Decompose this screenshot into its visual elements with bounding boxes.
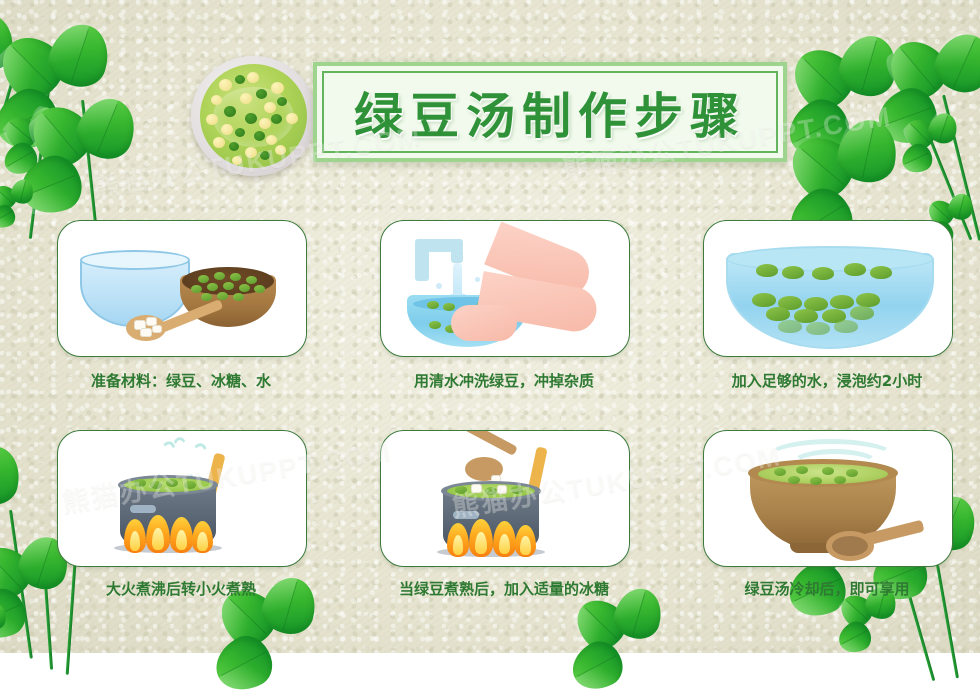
poster-root: 绿豆汤制作步骤 准备材料：绿豆、 [0, 0, 980, 653]
mung-bean [782, 266, 804, 279]
step-caption-1: 准备材料：绿豆、冰糖、水 [46, 370, 316, 391]
mung-bean [850, 306, 874, 320]
glass-bowl-rim [80, 250, 190, 270]
step-caption-2: 用清水冲洗绿豆，冲掉杂质 [369, 370, 639, 391]
title-banner: 绿豆汤制作步骤 [313, 62, 787, 162]
step-card-6[interactable] [703, 430, 953, 567]
mung-bean [223, 282, 234, 290]
pot-handle [453, 511, 479, 519]
clover-decoration-top-right [838, 15, 980, 245]
step-2-illustration [381, 221, 629, 356]
mung-bean [834, 476, 846, 484]
mung-bean [830, 295, 854, 309]
mung-bean [806, 322, 830, 335]
step-card-4[interactable] [57, 430, 307, 567]
pot-handle [130, 505, 156, 513]
page-title: 绿豆汤制作步骤 [354, 77, 746, 148]
mung-bean [427, 301, 439, 309]
title-banner-inner-frame: 绿豆汤制作步骤 [322, 71, 778, 153]
rock-sugar [471, 484, 482, 493]
clover-decoration-top-left [0, 20, 200, 250]
mung-bean [207, 283, 218, 291]
bowl-soup-surface [200, 64, 307, 168]
mung-bean [254, 285, 265, 293]
mung-bean [485, 487, 497, 495]
mung-bean [134, 479, 146, 487]
mung-bean [774, 468, 786, 476]
mung-bean [812, 267, 834, 280]
fingers [451, 305, 517, 341]
serving-spoon-bowl-inner [832, 536, 868, 556]
mung-bean [788, 476, 800, 484]
mung-bean [150, 481, 162, 489]
step-3-illustration [704, 221, 952, 356]
water-droplet [475, 277, 480, 282]
step-card-5[interactable] [380, 430, 630, 567]
rock-sugar [152, 325, 162, 333]
mung-bean [856, 293, 880, 307]
step-caption-5: 当绿豆煮熟后，加入适量的冰糖 [369, 578, 639, 599]
mung-bean [233, 293, 244, 301]
mung-bean [198, 275, 209, 283]
mung-bean [184, 481, 196, 489]
mung-bean [166, 479, 178, 487]
mung-bean [844, 263, 866, 276]
mung-bean [870, 266, 892, 279]
step-caption-6: 绿豆汤冷却后，即可享用 [692, 578, 962, 599]
mung-bean [443, 303, 455, 311]
mung-bean [511, 486, 523, 494]
mung-bean [191, 285, 202, 293]
step-caption-4: 大火煮沸后转小火煮熟 [46, 578, 316, 599]
step-4-illustration [58, 431, 306, 566]
step-caption-3: 加入足够的水，浸泡约2小时 [692, 370, 962, 391]
rock-sugar [140, 328, 152, 337]
mung-bean [429, 321, 441, 329]
mung-bean [796, 466, 808, 474]
mung-bean [778, 320, 802, 333]
faucet-nozzle [451, 249, 463, 263]
step-card-1[interactable] [57, 220, 307, 357]
rock-sugar [497, 485, 507, 494]
mung-bean [834, 320, 858, 333]
step-card-2[interactable] [380, 220, 630, 357]
mung-bean [214, 272, 225, 280]
mung-bean [455, 486, 467, 494]
mung-bean [230, 273, 241, 281]
mung-bean [752, 293, 776, 307]
mung-bean [822, 467, 834, 475]
step-6-illustration [704, 431, 952, 566]
step-5-illustration [381, 431, 629, 566]
clover-decoration-bottom-center-right [610, 595, 720, 655]
mung-bean-soup-bowl-icon [191, 56, 316, 176]
mung-bean [766, 307, 790, 321]
sugar-spoon-handle [462, 430, 518, 456]
mung-bean [846, 469, 858, 477]
mung-bean [239, 284, 250, 292]
step-1-illustration [58, 221, 306, 356]
step-card-3[interactable] [703, 220, 953, 357]
mung-bean [756, 264, 778, 277]
mung-bean [246, 276, 257, 284]
mung-bean [217, 292, 228, 300]
mung-bean [201, 293, 212, 301]
mung-bean [810, 477, 822, 485]
water-droplet [436, 283, 442, 289]
